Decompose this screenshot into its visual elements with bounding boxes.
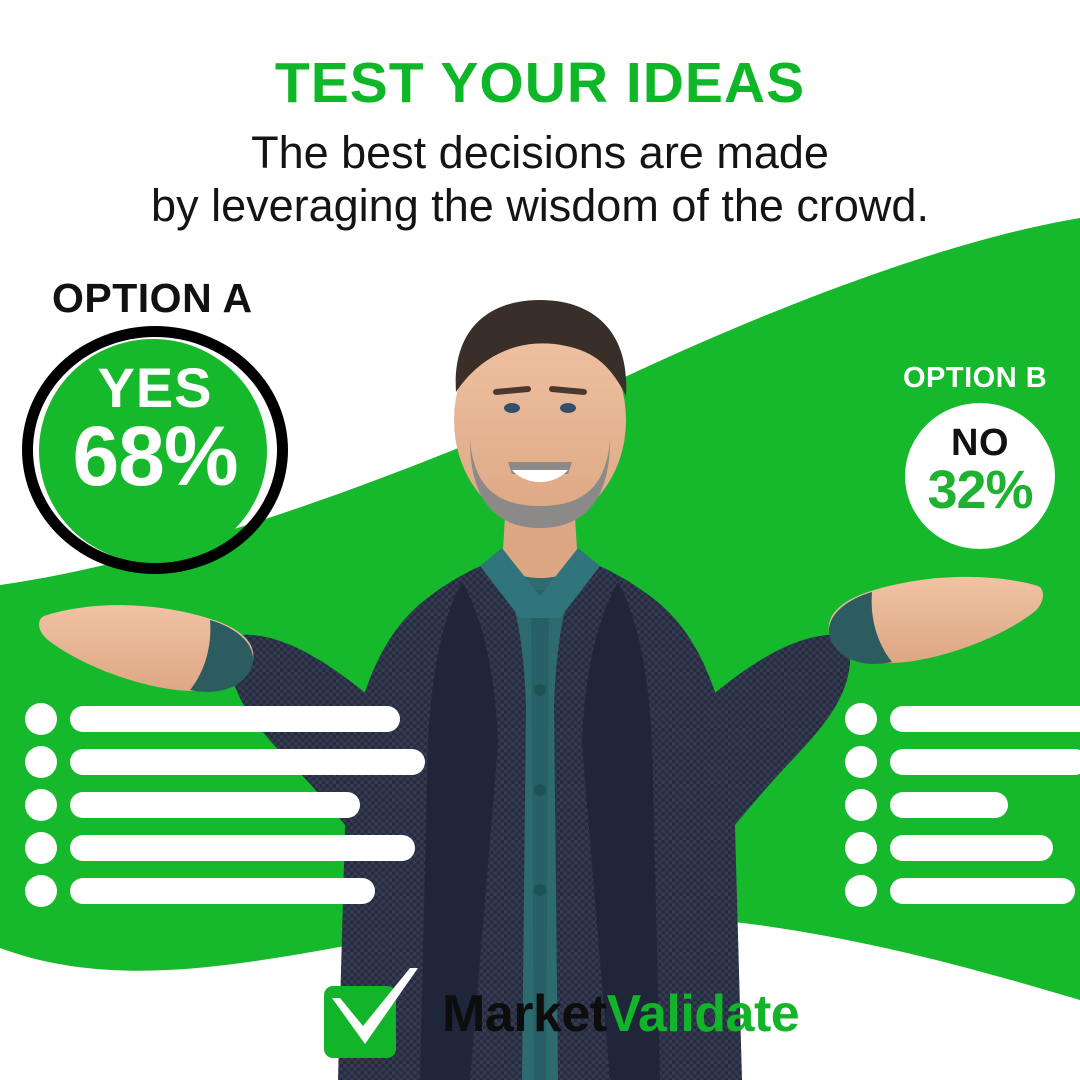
eyebrow-left xyxy=(496,389,528,392)
brand-wordmark: MarketValidate xyxy=(442,988,799,1040)
list-item xyxy=(845,703,1080,735)
placeholder-bar xyxy=(70,835,415,861)
option-b-percent: 32% xyxy=(905,463,1055,517)
placeholder-bar xyxy=(890,792,1008,818)
option-b-label: OPTION B xyxy=(903,362,1047,395)
poster-canvas: TEST YOUR IDEAS The best decisions are m… xyxy=(0,0,1080,1080)
shirt-button xyxy=(534,884,546,896)
bullet-dot-icon xyxy=(25,789,57,821)
left-placeholder-list xyxy=(25,703,425,918)
subtitle-line-1: The best decisions are made xyxy=(0,126,1080,179)
list-item xyxy=(25,875,425,907)
subtitle-line-2: by leveraging the wisdom of the crowd. xyxy=(0,179,1080,232)
option-a-percent: 68% xyxy=(22,414,288,498)
page-subtitle: The best decisions are made by leveragin… xyxy=(0,126,1080,232)
shirt-button xyxy=(534,684,546,696)
eye-left xyxy=(504,403,520,413)
page-title: TEST YOUR IDEAS xyxy=(0,55,1080,112)
bullet-dot-icon xyxy=(25,746,57,778)
placeholder-bar xyxy=(890,749,1080,775)
placeholder-bar xyxy=(890,706,1080,732)
placeholder-bar xyxy=(70,792,360,818)
placeholder-bar xyxy=(890,835,1053,861)
placeholder-bar xyxy=(70,878,375,904)
bullet-dot-icon xyxy=(25,703,57,735)
bullet-dot-icon xyxy=(845,789,877,821)
shirt-button xyxy=(534,784,546,796)
placeholder-bar xyxy=(890,878,1075,904)
brand-word-1: Market xyxy=(442,985,607,1043)
placeholder-bar xyxy=(70,706,400,732)
option-b-text: NO 32% xyxy=(905,424,1055,517)
bullet-dot-icon xyxy=(845,875,877,907)
checkmark-logo-icon xyxy=(322,968,418,1060)
eye-right xyxy=(560,403,576,413)
option-b-answer: NO xyxy=(905,424,1055,462)
bullet-dot-icon xyxy=(845,703,877,735)
list-item xyxy=(845,746,1080,778)
right-placeholder-list xyxy=(845,703,1080,918)
list-item xyxy=(845,875,1080,907)
option-a-text: YES 68% xyxy=(22,360,288,498)
brand-logo[interactable]: MarketValidate xyxy=(322,968,799,1060)
bullet-dot-icon xyxy=(845,746,877,778)
option-b-badge[interactable]: NO 32% xyxy=(905,403,1055,549)
placeholder-bar xyxy=(70,749,425,775)
list-item xyxy=(25,832,425,864)
option-a-answer: YES xyxy=(22,360,288,416)
option-a-label: OPTION A xyxy=(52,275,253,322)
brand-word-2: Validate xyxy=(607,985,800,1043)
list-item xyxy=(25,789,425,821)
list-item xyxy=(25,746,425,778)
bullet-dot-icon xyxy=(25,875,57,907)
bullet-dot-icon xyxy=(25,832,57,864)
eyebrow-right xyxy=(552,389,584,392)
list-item xyxy=(25,703,425,735)
option-a-badge[interactable]: YES 68% xyxy=(22,326,288,574)
bullet-dot-icon xyxy=(845,832,877,864)
list-item xyxy=(845,832,1080,864)
list-item xyxy=(845,789,1080,821)
